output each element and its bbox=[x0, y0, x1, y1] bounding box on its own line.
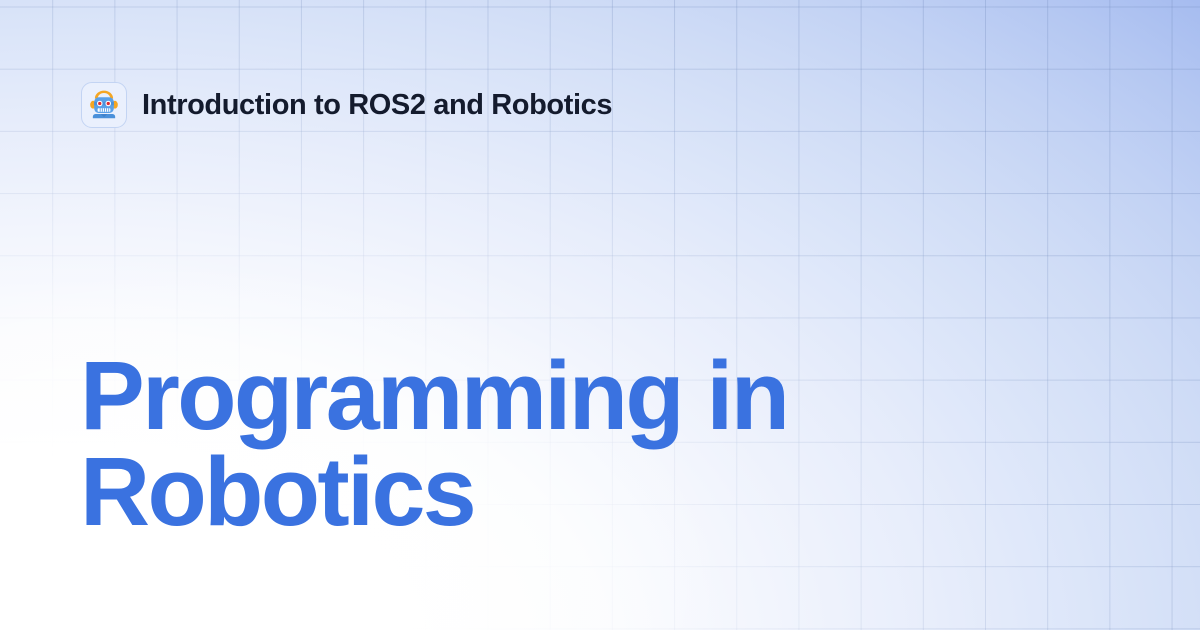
slide-header: Introduction to ROS2 and Robotics bbox=[81, 82, 612, 128]
slide-subtitle: Introduction to ROS2 and Robotics bbox=[142, 91, 612, 120]
robot-emoji-icon bbox=[81, 82, 127, 128]
presentation-slide: Introduction to ROS2 and Robotics Progra… bbox=[0, 0, 1200, 630]
slide-main-title-line-2: Robotics bbox=[80, 444, 840, 540]
slide-main-title: Programming in Robotics bbox=[80, 348, 840, 540]
slide-main-title-line-1: Programming in bbox=[80, 348, 840, 444]
